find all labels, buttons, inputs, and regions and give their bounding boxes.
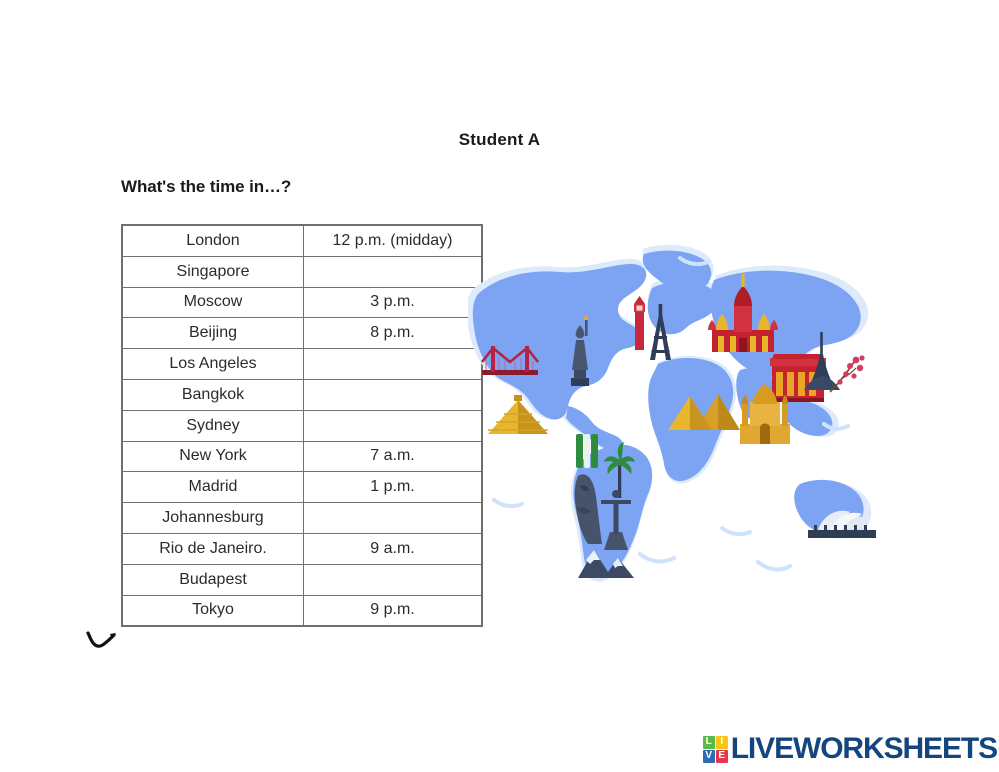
time-cell[interactable]: 3 p.m.: [304, 287, 482, 318]
city-cell: Budapest: [123, 564, 304, 595]
table-row: London12 p.m. (midday): [123, 226, 482, 257]
time-cell[interactable]: [304, 564, 482, 595]
table-row: Budapest: [123, 564, 482, 595]
world-times-table: London12 p.m. (midday)SingaporeMoscow3 p…: [122, 225, 482, 626]
world-map-illustration: [468, 236, 880, 608]
time-cell[interactable]: [304, 349, 482, 380]
big-ben-icon: [634, 296, 645, 350]
city-cell: Johannesburg: [123, 503, 304, 534]
city-cell: Madrid: [123, 472, 304, 503]
liveworksheets-badge: L I V E: [703, 736, 728, 763]
time-cell[interactable]: 12 p.m. (midday): [304, 226, 482, 257]
city-cell: London: [123, 226, 304, 257]
time-cell[interactable]: 7 a.m.: [304, 441, 482, 472]
badge-letter-l: L: [703, 736, 715, 749]
city-cell: Sydney: [123, 410, 304, 441]
city-cell: Rio de Janeiro.: [123, 533, 304, 564]
liveworksheets-wordmark: LIVEWORKSHEETS: [731, 732, 997, 766]
table-row: Bangkok: [123, 379, 482, 410]
table-row: Los Angeles: [123, 349, 482, 380]
city-cell: Beijing: [123, 318, 304, 349]
cherry-blossom-icon: [830, 355, 865, 392]
city-cell: Bangkok: [123, 379, 304, 410]
table-row: Moscow3 p.m.: [123, 287, 482, 318]
table-row: Singapore: [123, 256, 482, 287]
handwritten-check-mark: [86, 630, 120, 656]
table-row: Sydney: [123, 410, 482, 441]
city-cell: Moscow: [123, 287, 304, 318]
city-cell: New York: [123, 441, 304, 472]
table-row: New York7 a.m.: [123, 441, 482, 472]
city-cell: Singapore: [123, 256, 304, 287]
badge-letter-v: V: [703, 750, 715, 763]
liveworksheets-logo[interactable]: L I V E LIVEWORKSHEETS: [703, 732, 997, 766]
time-cell[interactable]: 1 p.m.: [304, 472, 482, 503]
table-row: Rio de Janeiro.9 a.m.: [123, 533, 482, 564]
time-cell[interactable]: [304, 410, 482, 441]
time-cell[interactable]: [304, 503, 482, 534]
city-cell: Tokyo: [123, 595, 304, 626]
table-row: Tokyo9 p.m.: [123, 595, 482, 626]
page-title: Student A: [0, 130, 999, 150]
time-cell[interactable]: 8 p.m.: [304, 318, 482, 349]
nigeria-flag-icon: [576, 434, 598, 468]
city-cell: Los Angeles: [123, 349, 304, 380]
badge-letter-e: E: [716, 750, 728, 763]
time-cell[interactable]: [304, 256, 482, 287]
table-row: Madrid1 p.m.: [123, 472, 482, 503]
time-cell[interactable]: 9 p.m.: [304, 595, 482, 626]
time-cell[interactable]: 9 a.m.: [304, 533, 482, 564]
table-row: Beijing8 p.m.: [123, 318, 482, 349]
table-row: Johannesburg: [123, 503, 482, 534]
time-cell[interactable]: [304, 379, 482, 410]
prompt-heading: What's the time in…?: [121, 177, 291, 197]
badge-letter-i: I: [716, 736, 728, 749]
